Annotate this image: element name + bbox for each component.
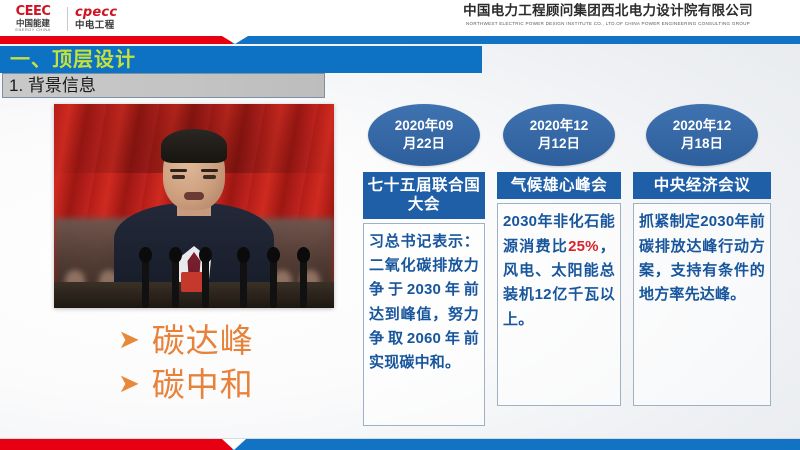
subsection-title-bar: 1. 背景信息 [2, 73, 325, 98]
date-badge: 2020年12 月18日 [646, 104, 758, 166]
arrow-bullet-icon: ➤ [118, 371, 140, 397]
event-heading: 七十五届联合国大会 [363, 172, 485, 219]
organization-name: 中国电力工程顾问集团西北电力设计院有限公司 NORTHWEST ELECTRIC… [422, 3, 794, 26]
date-badge: 2020年09 月22日 [368, 104, 480, 166]
top-stripe-blue [232, 36, 800, 44]
company-logos: CEEC 中国能建 ENERGY CHINA cpecc 中电工程 [6, 3, 117, 34]
date-badge-line2: 月12日 [538, 135, 580, 153]
key-goal-label: 碳中和 [152, 368, 254, 401]
ceec-logo-en: ENERGY CHINA [15, 28, 50, 32]
timeline-column: 2020年09 月22日 七十五届联合国大会 习总书记表示：二氧化碳排放力争于2… [358, 104, 490, 426]
date-badge-line1: 2020年09 [395, 117, 454, 135]
photo-speaker-brow-right [201, 169, 218, 172]
bottom-stripe-blue [232, 439, 800, 450]
event-body-prefix: 抓紧制定2030年前碳排放达峰行动方案，支持有条件的地方率先达峰。 [639, 213, 765, 303]
top-accent-stripe [0, 36, 800, 44]
date-badge-line1: 2020年12 [530, 117, 589, 135]
photo-podium [54, 282, 334, 308]
ceec-logo-cn: 中国能建 [16, 19, 50, 28]
top-stripe-red [0, 36, 232, 44]
photo-microphone [270, 254, 277, 308]
event-heading: 中央经济会议 [633, 172, 771, 199]
bottom-accent-stripe [0, 439, 800, 450]
photo-microphone [142, 254, 149, 308]
event-body-highlight: 25% [568, 238, 599, 255]
subsection-title: 1. 背景信息 [3, 77, 96, 94]
logo-divider [67, 7, 68, 31]
slide-root: CEEC 中国能建 ENERGY CHINA cpecc 中电工程 中国电力工程… [0, 0, 800, 450]
timeline-column: 2020年12 月12日 气候雄心峰会 2030年非化石能源消费比25%，风电、… [492, 104, 626, 406]
section-title-bar: 一、顶层设计 [0, 46, 482, 73]
ceec-logo-mark: CEEC [16, 5, 51, 18]
bottom-stripe-red [0, 439, 232, 450]
organization-name-cn: 中国电力工程顾问集团西北电力设计院有限公司 [422, 3, 794, 19]
event-heading: 气候雄心峰会 [497, 172, 621, 199]
date-badge-line1: 2020年12 [673, 117, 732, 135]
section-title: 一、顶层设计 [0, 50, 136, 70]
list-item: ➤ 碳中和 [118, 362, 348, 406]
date-badge: 2020年12 月12日 [503, 104, 615, 166]
event-body: 抓紧制定2030年前碳排放达峰行动方案，支持有条件的地方率先达峰。 [633, 203, 771, 406]
photo-speaker-mouth [184, 192, 204, 200]
leader-speech-photo [54, 104, 334, 308]
key-goal-label: 碳达峰 [152, 324, 254, 357]
photo-microphone [202, 254, 209, 308]
photo-speaker-hair [161, 129, 227, 163]
key-goals-list: ➤ 碳达峰 ➤ 碳中和 [118, 318, 348, 406]
photo-speaker-brow-left [170, 169, 187, 172]
arrow-bullet-icon: ➤ [118, 327, 140, 353]
photo-speaker-eye-right [203, 175, 216, 179]
photo-microphone [300, 254, 307, 308]
cpecc-logo-cn: 中电工程 [75, 21, 117, 31]
date-badge-line2: 月22日 [403, 135, 445, 153]
cpecc-logo: cpecc 中电工程 [75, 6, 117, 31]
event-body-prefix: 习总书记表示：二氧化碳排放力争于2030年前达到峰值，努力争取2060年前实现碳… [369, 233, 479, 371]
photo-microphone [172, 254, 179, 308]
date-badge-line2: 月18日 [681, 135, 723, 153]
photo-microphone [240, 254, 247, 308]
cpecc-logo-mark: cpecc [75, 6, 117, 19]
timeline-column: 2020年12 月18日 中央经济会议 抓紧制定2030年前碳排放达峰行动方案，… [628, 104, 776, 406]
ceec-logo: CEEC 中国能建 ENERGY CHINA [6, 5, 60, 33]
event-body: 习总书记表示：二氧化碳排放力争于2030年前达到峰值，努力争取2060年前实现碳… [363, 223, 485, 426]
event-body: 2030年非化石能源消费比25%，风电、太阳能总装机12亿千瓦以上。 [497, 203, 621, 406]
list-item: ➤ 碳达峰 [118, 318, 348, 362]
slide-header: CEEC 中国能建 ENERGY CHINA cpecc 中电工程 中国电力工程… [0, 0, 800, 36]
organization-name-en: NORTHWEST ELECTRIC POWER DESIGN INSTITUT… [422, 21, 794, 26]
photo-speaker-eye-left [172, 175, 185, 179]
